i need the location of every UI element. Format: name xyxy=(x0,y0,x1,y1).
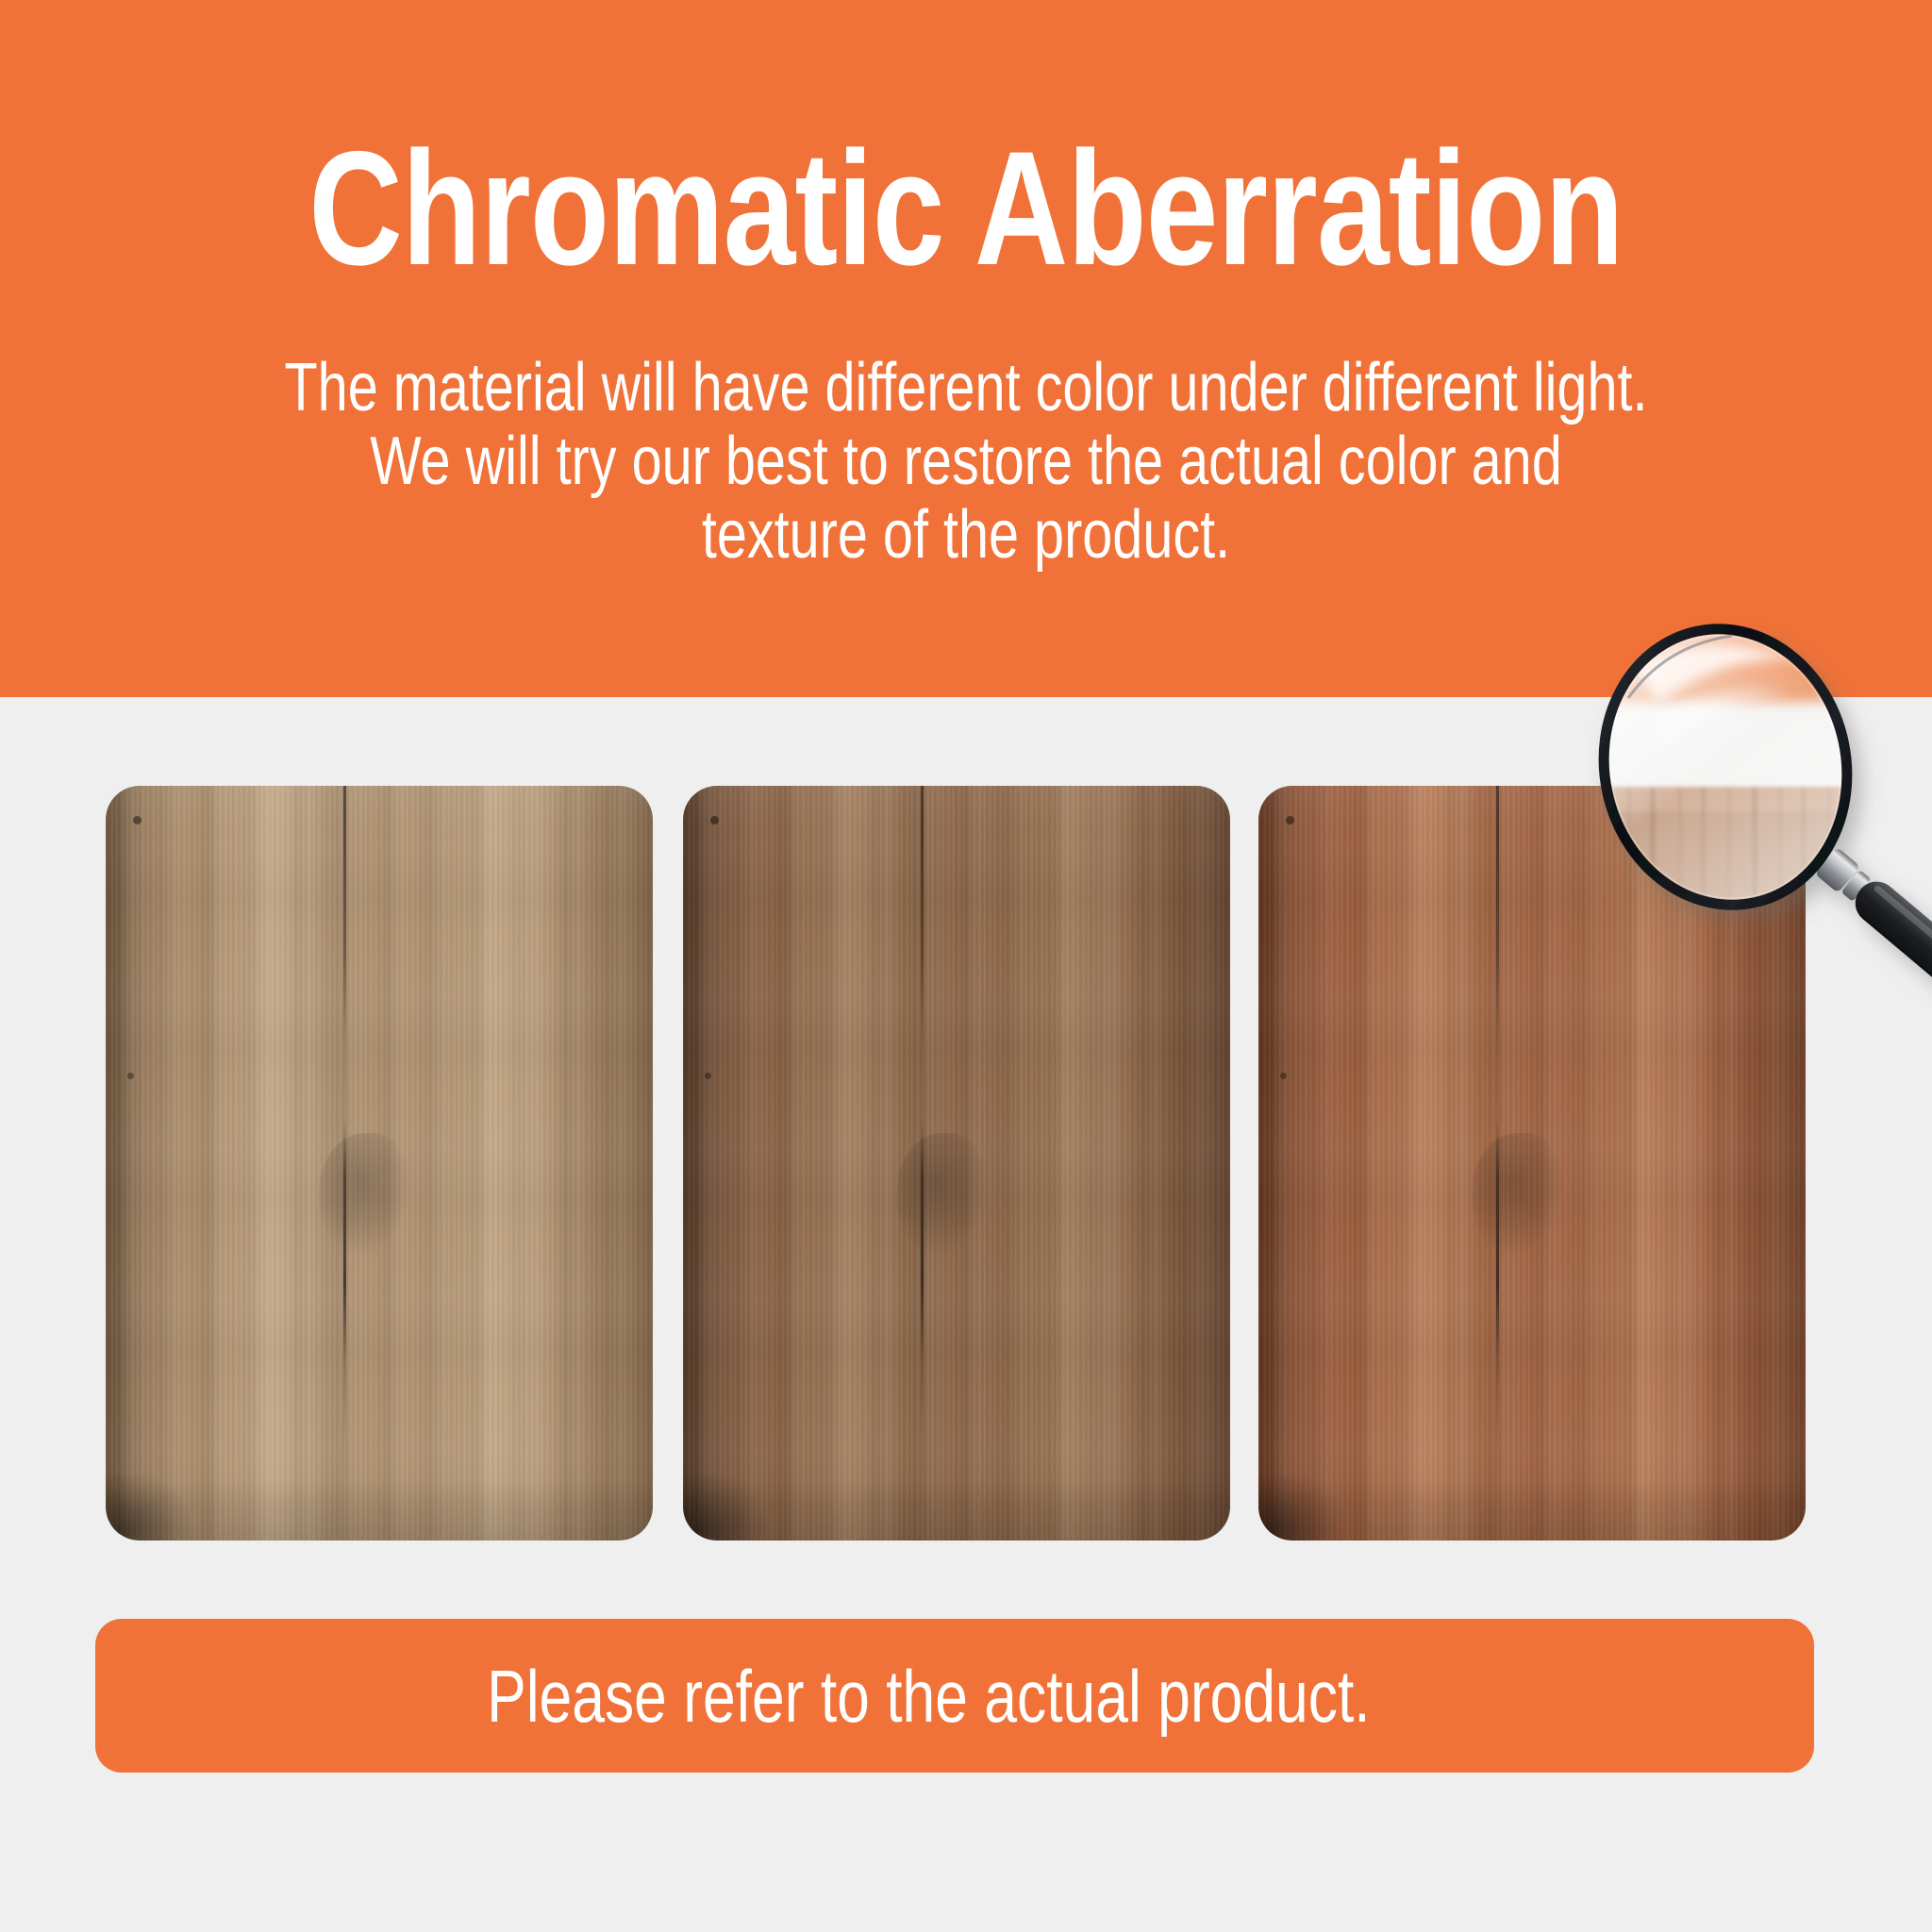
wood-swatch-warm-cherry xyxy=(1258,786,1806,1541)
edge-shading xyxy=(106,786,653,1541)
edge-shading xyxy=(683,786,1230,1541)
cta-button-label: Please refer to the actual product. xyxy=(487,1659,1371,1733)
edge-shading xyxy=(1258,786,1806,1541)
refer-to-actual-product-button[interactable]: Please refer to the actual product. xyxy=(95,1619,1814,1773)
promo-graphic-root: Chromatic Aberration The material will h… xyxy=(0,0,1932,1932)
wood-swatch-medium-walnut xyxy=(683,786,1230,1541)
wood-swatch-light-oak xyxy=(106,786,653,1541)
